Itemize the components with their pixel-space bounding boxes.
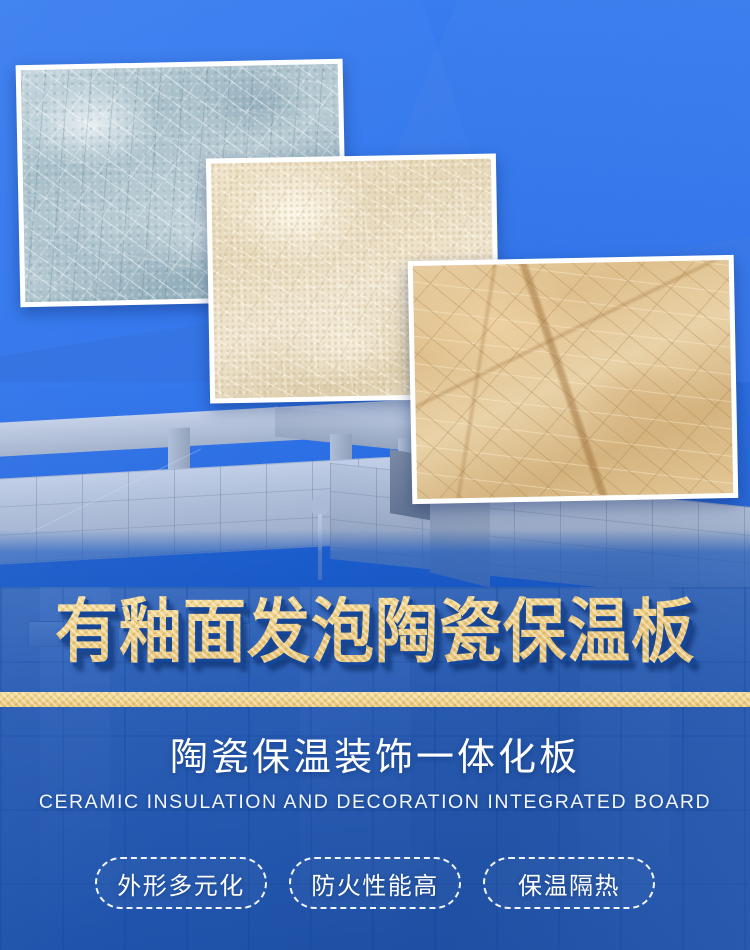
gold-divider-rule — [0, 692, 750, 707]
feature-pill-thermal-insulation[interactable]: 保温隔热 — [483, 857, 655, 909]
headline-block: 有釉面发泡陶瓷保温板 — [0, 592, 750, 670]
subtitle-english: CERAMIC INSULATION AND DECORATION INTEGR… — [0, 791, 750, 814]
subtitle-block: 陶瓷保温装饰一体化板 CERAMIC INSULATION AND DECORA… — [0, 735, 750, 814]
product-banner: 有釉面发泡陶瓷保温板 陶瓷保温装饰一体化板 CERAMIC INSULATION… — [0, 0, 750, 950]
tile-texture-tan-marble — [413, 260, 733, 499]
feature-pill-shape-diversity[interactable]: 外形多元化 — [95, 857, 267, 909]
feature-pill-label: 保温隔热 — [518, 866, 620, 901]
feature-pill-label: 防火性能高 — [311, 866, 439, 901]
feature-pill-label: 外形多元化 — [117, 866, 245, 901]
subtitle-chinese: 陶瓷保温装饰一体化板 — [0, 735, 750, 780]
feature-pill-group: 外形多元化 防火性能高 保温隔热 — [0, 857, 750, 909]
feature-pill-fire-resistance[interactable]: 防火性能高 — [289, 857, 461, 909]
product-tile-tan-marble[interactable] — [408, 255, 739, 504]
headline-title: 有釉面发泡陶瓷保温板 — [55, 596, 695, 667]
